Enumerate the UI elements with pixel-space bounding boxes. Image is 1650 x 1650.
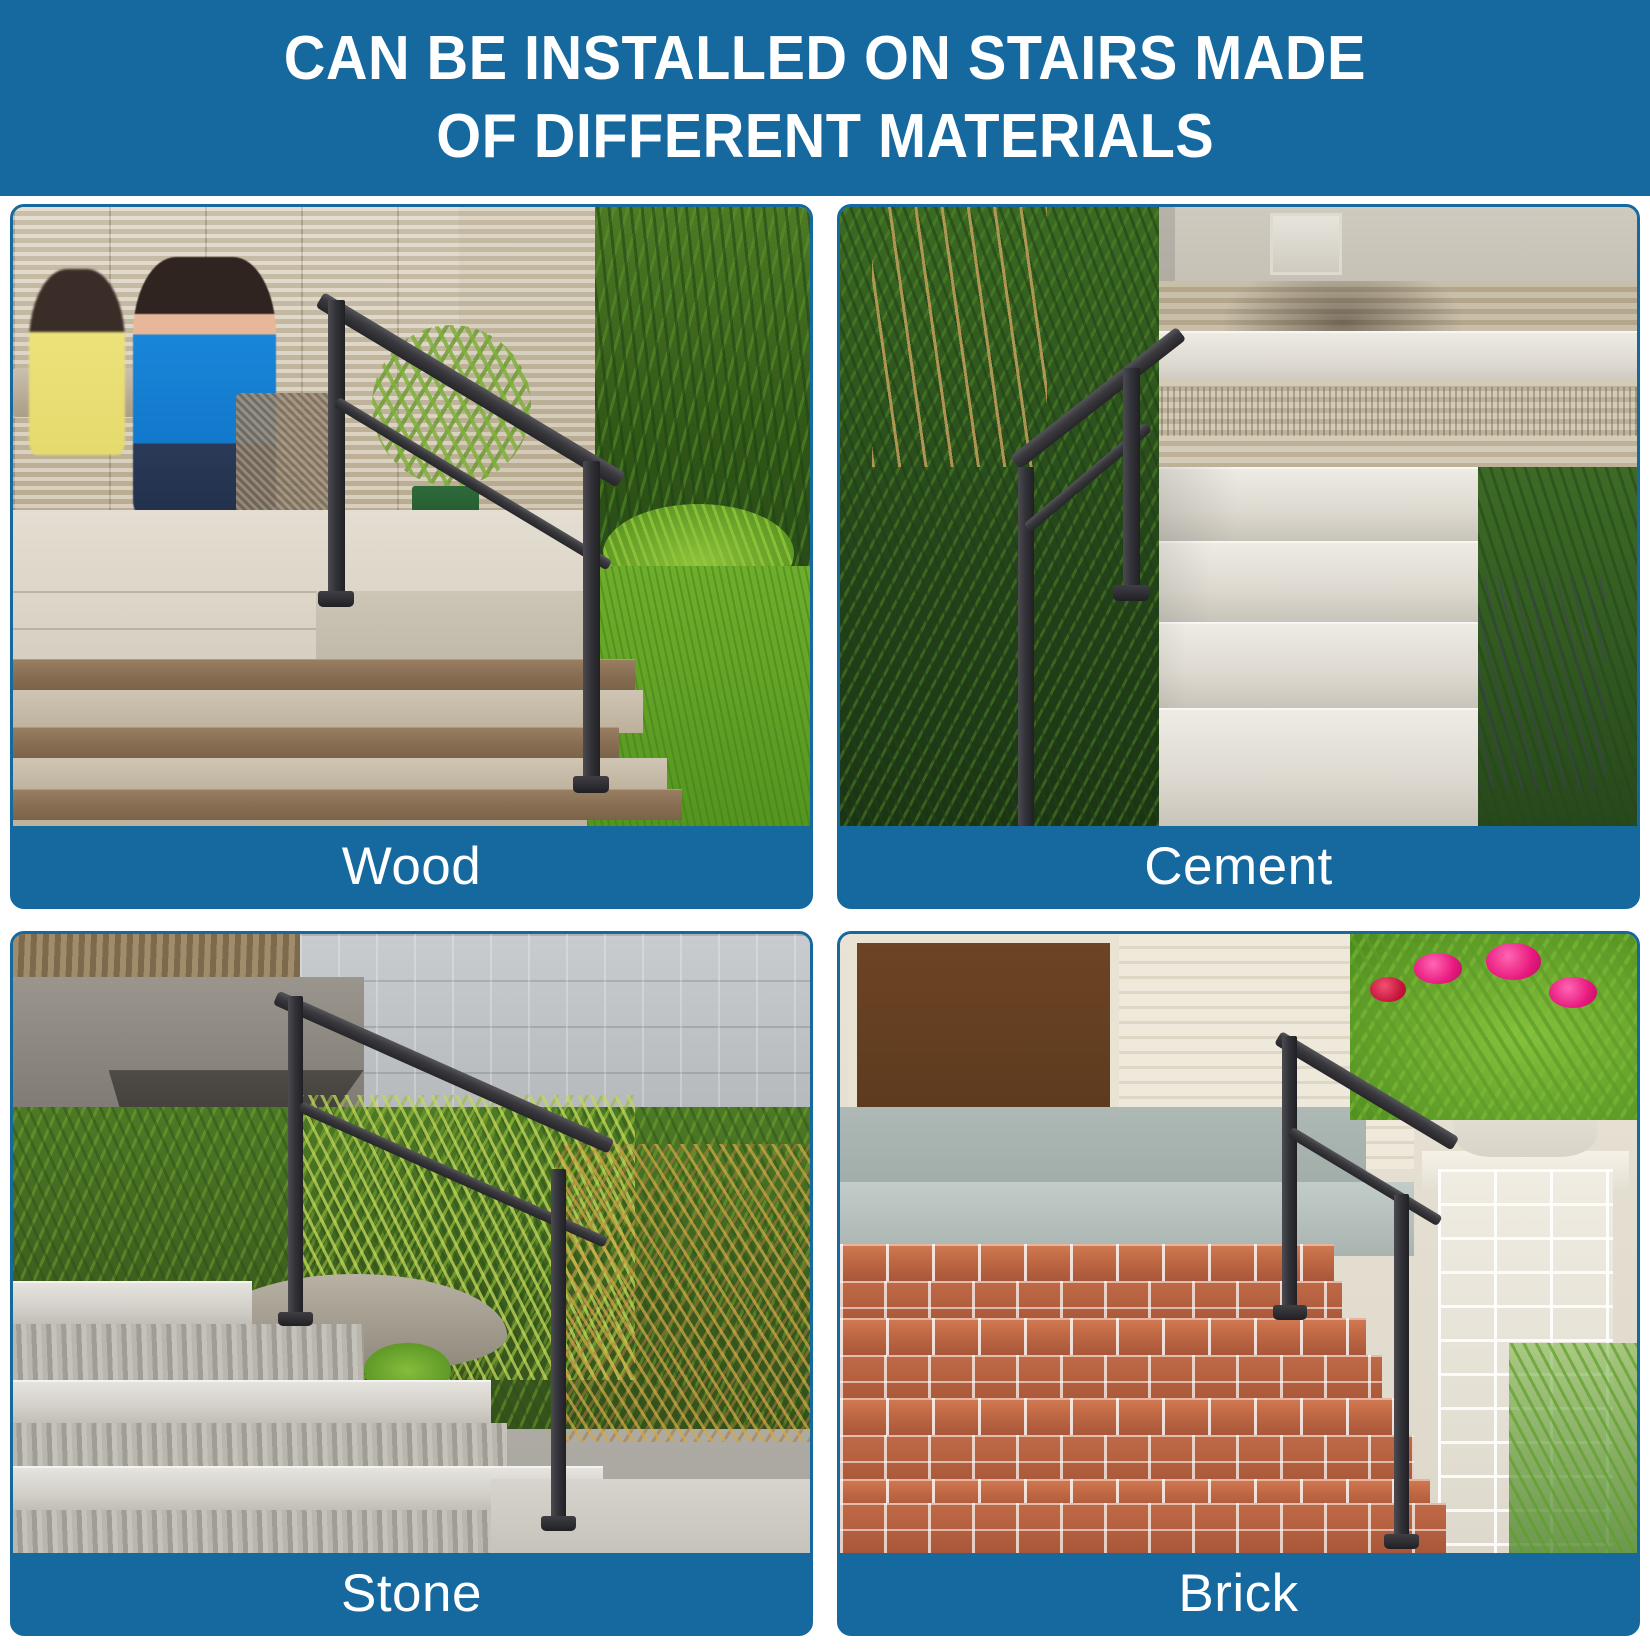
brick-step-cap-2	[840, 1398, 1398, 1435]
handrail-upper-foot	[278, 1312, 312, 1327]
brick-step-cap-4	[840, 1244, 1334, 1281]
stair-tread-1	[13, 727, 619, 758]
handrail-upper-post	[1123, 368, 1140, 591]
material-card-grid: Wood	[10, 204, 1640, 1636]
stone-riser-top	[13, 1324, 364, 1380]
deck-grating	[1143, 387, 1637, 437]
stone-tread-2	[13, 1380, 491, 1430]
material-card-cement[interactable]: Cement	[837, 204, 1640, 909]
lavender-stems	[1478, 578, 1606, 788]
red-flower	[1370, 977, 1406, 1002]
photo-stone	[13, 934, 810, 1553]
handrail-upper-foot	[1113, 585, 1149, 601]
handrail-lower-foot	[541, 1516, 575, 1531]
brick-step-face-2	[840, 1435, 1414, 1485]
handrail-lower-foot	[1384, 1534, 1418, 1549]
bronze-grasses	[555, 1144, 810, 1441]
stair-tread-2	[13, 789, 682, 820]
handrail-upper-post	[1282, 1036, 1297, 1315]
brick-step-cap-3	[840, 1318, 1366, 1355]
front-door	[848, 934, 1119, 1132]
handrail-lower-post	[583, 461, 600, 783]
stone-top-landing	[13, 1281, 252, 1331]
caption-label-brick: Brick	[1178, 1567, 1298, 1620]
infographic-root: CAN BE INSTALLED ON STAIRS MADE OF DIFFE…	[0, 0, 1650, 1650]
header-banner: CAN BE INSTALLED ON STAIRS MADE OF DIFFE…	[0, 0, 1650, 196]
caption-label-wood: Wood	[342, 840, 482, 893]
handrail-upper-foot	[1273, 1305, 1307, 1320]
material-card-wood[interactable]: Wood	[10, 204, 813, 909]
cement-step-top	[1159, 331, 1637, 387]
caption-bar-brick: Brick	[840, 1553, 1637, 1633]
brick-step-face-3	[840, 1355, 1382, 1405]
person-woman	[29, 269, 125, 455]
header-title-line-2: OF DIFFERENT MATERIALS	[436, 98, 1214, 176]
material-card-stone[interactable]: Stone	[10, 931, 813, 1636]
handrail-upper-post	[328, 300, 345, 597]
house-window	[1270, 213, 1342, 275]
photo-cement	[840, 207, 1637, 826]
material-card-brick[interactable]: Brick	[837, 931, 1640, 1636]
bamboo-canes	[872, 207, 1047, 467]
brick-step-face-1	[840, 1503, 1446, 1553]
handrail-upper-post	[288, 996, 303, 1318]
photo-brick	[840, 934, 1637, 1553]
header-title-line-1: CAN BE INSTALLED ON STAIRS MADE	[284, 20, 1366, 98]
caption-bar-cement: Cement	[840, 826, 1637, 906]
handrail-upper-foot	[318, 591, 354, 607]
handrail-lower-post	[551, 1169, 566, 1522]
paved-ground	[491, 1479, 810, 1553]
caption-label-cement: Cement	[1144, 840, 1333, 893]
pink-flower	[1414, 953, 1462, 984]
handrail-lower-foot	[573, 776, 609, 792]
caption-bar-stone: Stone	[13, 1553, 810, 1633]
stone-riser-2	[13, 1423, 507, 1473]
photo-wood	[13, 207, 810, 826]
deck-top-tread	[13, 659, 635, 690]
handrail-lower-post	[1394, 1194, 1409, 1541]
trailing-vine	[1509, 1343, 1637, 1553]
caption-label-stone: Stone	[341, 1567, 482, 1620]
caption-bar-wood: Wood	[13, 826, 810, 906]
